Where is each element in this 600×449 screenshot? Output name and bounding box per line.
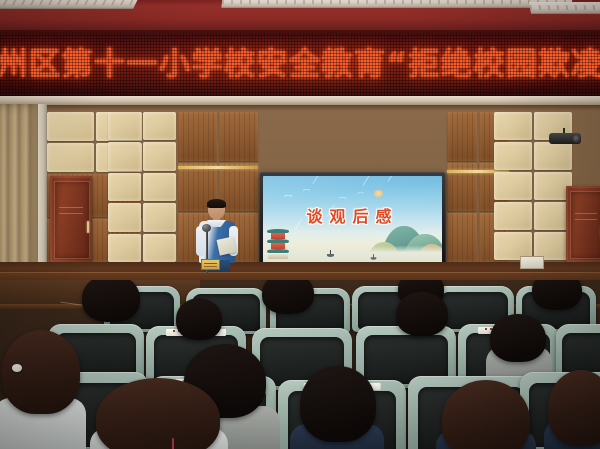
rain-streak (313, 176, 322, 184)
bird-icon (303, 189, 311, 192)
boat-sail (330, 250, 331, 254)
led-banner: 市巴州区第十一小学校安全教育“拒绝校园欺凌，打 (0, 34, 600, 96)
speaker-hair (207, 199, 226, 208)
screen-title-text: 谈观后感 (263, 203, 442, 227)
door-right[interactable] (566, 186, 600, 262)
acoustic-panel (143, 173, 176, 201)
wood-panel (447, 112, 477, 161)
acoustic-panel (108, 142, 141, 170)
acoustic-panel (143, 234, 176, 262)
acoustic-panel (143, 112, 176, 140)
spotlight-icon (549, 128, 581, 148)
acoustic-panel-grid-center-left (108, 112, 176, 262)
list-item (490, 314, 546, 362)
bird-icon (339, 197, 348, 200)
screen-content: 谈观后感 (263, 176, 442, 264)
spotlight-lens (573, 135, 581, 143)
curtain-edge-pillar (38, 104, 47, 276)
door-left[interactable] (50, 176, 92, 262)
acoustic-panel (108, 112, 141, 140)
auditorium-scene: 市巴州区第十一小学校安全教育“拒绝校园欺凌，打 (0, 0, 600, 449)
acoustic-panel (47, 143, 94, 172)
door-handle[interactable] (87, 221, 89, 233)
bird-icon (358, 192, 365, 195)
acoustic-panel (108, 173, 141, 201)
rain-streak (363, 176, 371, 186)
pagoda-icon (267, 229, 289, 259)
ceiling-cornice-center (221, 0, 572, 8)
acoustic-panel (108, 203, 141, 231)
acoustic-panel (494, 202, 532, 230)
acoustic-panel (494, 142, 532, 170)
lanyard-strap (172, 438, 174, 449)
sun-icon (374, 190, 383, 197)
audience-area (0, 280, 600, 449)
acoustic-panel (143, 142, 176, 170)
list-item (396, 292, 448, 336)
wood-panel (178, 112, 217, 161)
door-panel (54, 181, 90, 259)
wall-gold-accent-left (178, 166, 258, 169)
projection-screen[interactable]: 谈观后感 (259, 172, 446, 268)
ceiling-cornice-right (529, 2, 600, 14)
acoustic-panel (494, 172, 532, 200)
acoustic-panel (108, 234, 141, 262)
wood-panel (219, 112, 258, 161)
wood-panel (447, 213, 477, 262)
list-item (262, 280, 314, 314)
wall-top-trim (0, 96, 600, 105)
microphone-icon (202, 224, 211, 232)
bird-icon (284, 194, 294, 198)
list-item (300, 366, 376, 442)
stage-side-sign (520, 256, 544, 269)
podium-sign (201, 259, 220, 270)
acoustic-panel (494, 112, 532, 140)
acoustic-panel (47, 112, 94, 141)
list-item (176, 298, 222, 340)
ceiling-cornice-left (0, 0, 139, 9)
acoustic-panel (143, 203, 176, 231)
pagoda-roof (267, 249, 289, 253)
door-detail-lines (59, 207, 83, 219)
stage-curtain-left (0, 104, 40, 276)
hair-clip-icon (12, 364, 22, 372)
list-item (548, 370, 600, 446)
list-item (532, 280, 582, 310)
rain-streak (388, 176, 398, 182)
door-detail-lines (575, 213, 597, 225)
pagoda-base (268, 254, 288, 259)
list-item (82, 280, 140, 322)
wall-top-shadow (0, 105, 600, 111)
list-item (2, 330, 80, 414)
led-banner-glow (0, 34, 600, 96)
